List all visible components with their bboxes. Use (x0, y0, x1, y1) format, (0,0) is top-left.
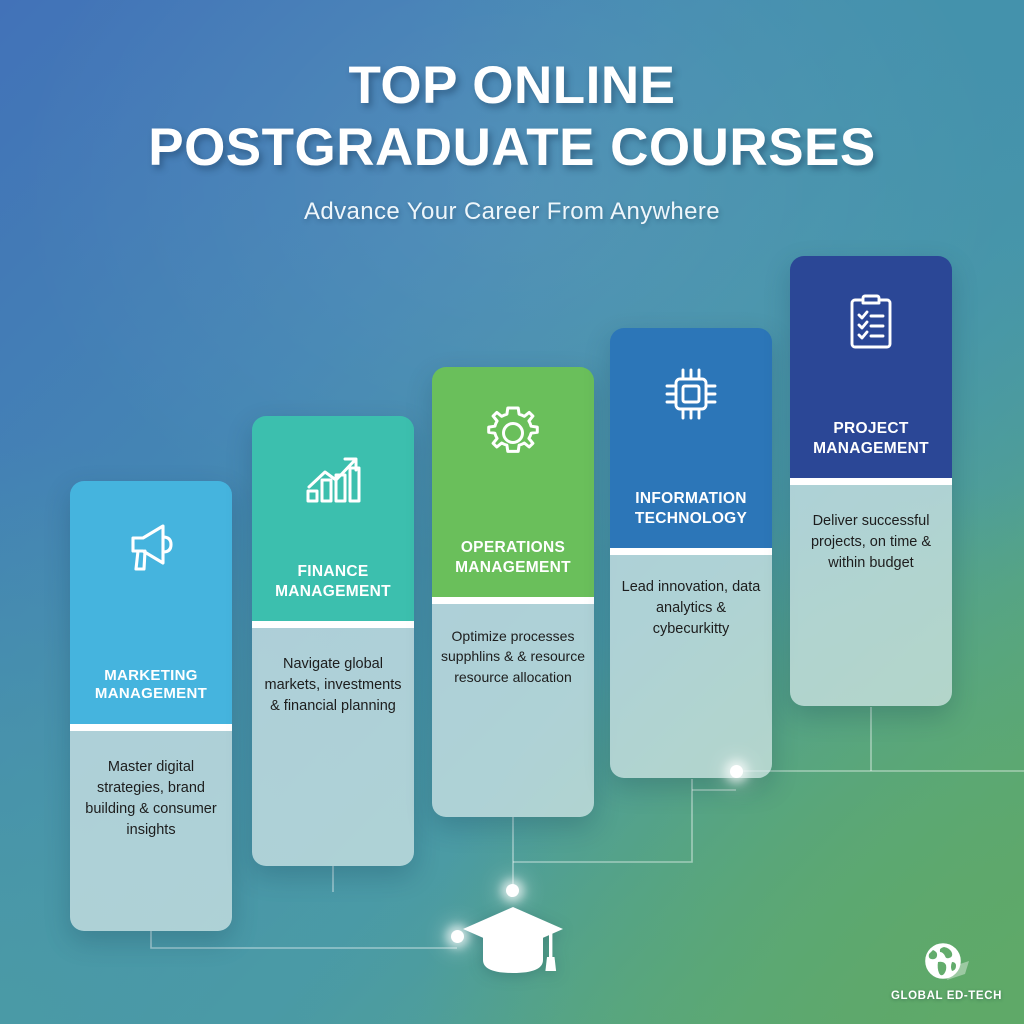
growth-chart-icon (302, 434, 364, 530)
course-card-finance-management[interactable]: FINANCE MANAGEMENT Navigate global marke… (252, 416, 414, 866)
card-title-line-2: MANAGEMENT (95, 685, 207, 702)
card-header: INFORMATION TECHNOLOGY (610, 328, 772, 548)
card-title: MARKETING MANAGEMENT (87, 667, 215, 725)
connector-node-top (506, 884, 519, 897)
card-title: PROJECT MANAGEMENT (805, 419, 937, 478)
card-title: INFORMATION TECHNOLOGY (627, 489, 755, 548)
microchip-icon (662, 346, 720, 442)
course-card-information-technology[interactable]: INFORMATION TECHNOLOGY Lead innovation, … (610, 328, 772, 778)
card-title-line-1: INFORMATION (635, 490, 747, 507)
brand-logo: GLOBAL ED-TECH (891, 940, 1002, 1002)
course-card-marketing-management[interactable]: MARKETING MANAGEMENT Master digital stra… (70, 481, 232, 931)
gear-icon (483, 385, 543, 481)
card-title-line-2: TECHNOLOGY (635, 510, 747, 527)
card-title-line-1: FINANCE (298, 563, 369, 580)
card-title: OPERATIONS MANAGEMENT (447, 538, 579, 597)
card-description: Deliver successful projects, on time & w… (790, 485, 952, 706)
card-title-line-2: MANAGEMENT (813, 440, 929, 457)
course-card-operations-management[interactable]: OPERATIONS MANAGEMENT Optimize processes… (432, 367, 594, 817)
connector-node-right (730, 765, 743, 778)
page-subtitle: Advance Your Career From Anywhere (0, 198, 1024, 226)
course-card-project-management[interactable]: PROJECT MANAGEMENT Deliver successful pr… (790, 256, 952, 706)
clipboard-checklist-icon (843, 274, 899, 370)
card-title-line-1: OPERATIONS (461, 539, 565, 556)
graduation-cap-icon (461, 903, 565, 986)
card-description: Lead innovation, data analytics & cybecu… (610, 555, 772, 778)
infographic-poster: TOP ONLINE POSTGRADUATE COURSES Advance … (0, 0, 1024, 1024)
card-divider (610, 548, 772, 555)
card-header: OPERATIONS MANAGEMENT (432, 367, 594, 597)
card-header: PROJECT MANAGEMENT (790, 256, 952, 478)
card-title-line-1: MARKETING (104, 667, 198, 684)
megaphone-icon (121, 499, 181, 595)
card-title-line-2: MANAGEMENT (455, 559, 571, 576)
card-description: Optimize processes supphlins & & resourc… (432, 604, 594, 817)
connector-card1 (151, 931, 457, 948)
card-divider (790, 478, 952, 485)
card-divider (70, 724, 232, 731)
card-title-line-1: PROJECT (833, 420, 908, 437)
connector-node-left (451, 930, 464, 943)
card-description: Navigate global markets, investments & f… (252, 628, 414, 866)
card-description: Master digital strategies, brand buildin… (70, 731, 232, 931)
page-title-line-1: TOP ONLINE (0, 58, 1024, 114)
page-title-line-2: POSTGRADUATE COURSES (0, 120, 1024, 176)
card-header: FINANCE MANAGEMENT (252, 416, 414, 621)
brand-name: GLOBAL ED-TECH (891, 990, 1002, 1002)
card-divider (252, 621, 414, 628)
card-title-line-2: MANAGEMENT (275, 583, 391, 600)
poster-header: TOP ONLINE POSTGRADUATE COURSES Advance … (0, 58, 1024, 226)
card-title: FINANCE MANAGEMENT (267, 562, 399, 621)
card-header: MARKETING MANAGEMENT (70, 481, 232, 724)
globe-icon (920, 940, 972, 988)
card-divider (432, 597, 594, 604)
